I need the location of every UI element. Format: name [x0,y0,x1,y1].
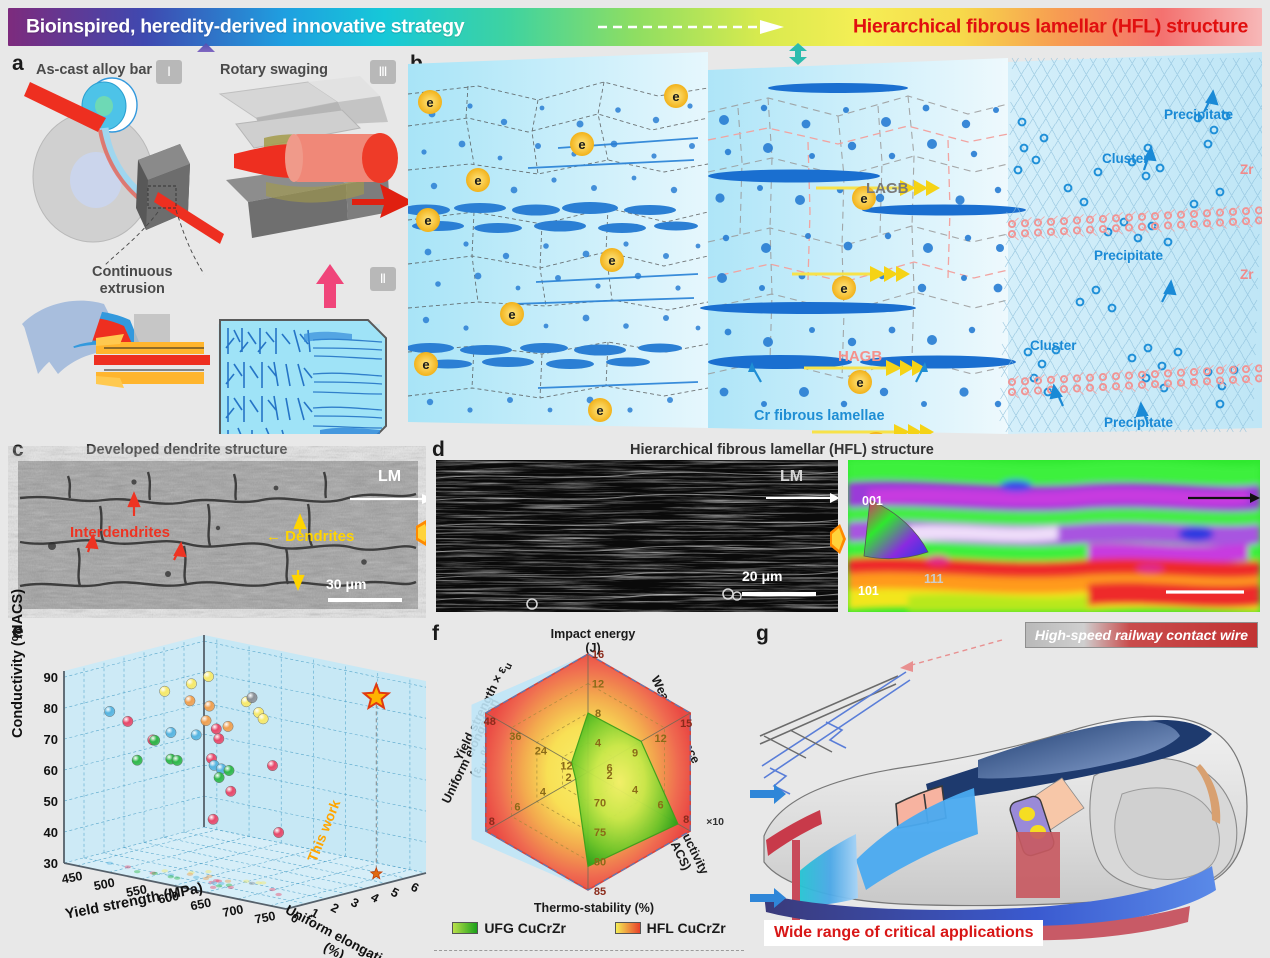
label-precipitate-1: Precipitate [1164,107,1233,122]
scatter-point [258,714,268,724]
radar-tick-label: 12 [654,733,666,745]
dashed-right-arrow-icon [598,17,788,37]
banner-right-text: Hierarchical fibrous lamellar (HFL) stru… [853,16,1248,39]
panel-c-lm-label: LM [378,468,401,486]
label-zr-2: Zr [1240,267,1254,282]
legend-label-hfl: HFL CuCrZr [647,920,726,936]
label-cluster-2: Cluster [1030,338,1077,353]
radar-tick-label: 4 [632,785,639,797]
svg-text:6: 6 [409,880,422,896]
panel-c-scale-bar [328,598,402,602]
panel-a-drawing [8,52,408,434]
svg-text:80: 80 [44,701,58,716]
label-lagb: LAGB [866,180,909,197]
scatter-point [160,686,170,696]
scatter-point [214,734,224,744]
scatter-point [186,679,196,689]
svg-text:60: 60 [44,763,58,778]
scatter-point [150,735,160,745]
svg-text:2: 2 [329,900,342,916]
panel-e-3d-scatter: e Conductivity (%IACS) 30405060708090450… [8,620,428,950]
scatter-point [273,827,283,837]
radar-tick-label: 8 [595,708,601,720]
radar-tick-label: 70 [594,798,606,810]
panel-f-radar-chart: f Impact energy(J) Wear resistance(mg-1·… [428,620,750,958]
svg-text:750: 750 [254,909,277,927]
legend-label-ufg: UFG CuCrZr [484,920,566,936]
label-interdendrites: Interdendrites [70,524,170,541]
radar-tick-label: 36 [509,731,521,743]
svg-text:40: 40 [44,825,58,840]
figure-root: Bioinspired, heredity-derived innovative… [0,0,1270,958]
svg-text:e: e [474,173,481,188]
svg-text:e: e [856,375,863,390]
radar-tick-label: 12 [592,679,604,691]
radar-tick-label: 24 [535,746,548,758]
ipf-label-101: 101 [858,584,879,598]
scatter-point [203,671,213,681]
scatter-point [166,727,176,737]
panel-d-lm-left: LM [780,468,803,486]
panel-d-scale-left-text: 20 μm [742,568,782,584]
svg-text:e: e [508,307,515,322]
radar-tick-label: 85 [594,886,606,898]
svg-text:90: 90 [44,670,58,685]
svg-text:e: e [608,253,615,268]
label-zr-1: Zr [1240,162,1254,177]
legend-swatch-hfl [615,922,641,934]
scatter-point [132,755,142,765]
scatter-point [247,692,257,702]
scatter-point [105,706,115,716]
panel-b-drawing: e e e e e e e e e e e e e [408,52,1262,434]
svg-text:e: e [426,95,433,110]
panel-d-scale-left-bar [742,592,816,596]
radar-tick-label: 9 [632,748,638,760]
svg-text:4: 4 [369,890,382,906]
panel-e-plot: 3040506070809045050055060065070075001234… [8,620,428,950]
scatter-point [204,701,214,711]
radar-tick-label: 15 [680,718,692,730]
svg-text:e: e [578,137,585,152]
svg-text:e: e [424,213,431,228]
legend-swatch-ufg [452,922,478,934]
legend-item-hfl: HFL CuCrZr [615,920,726,936]
panel-d-hfl-micrographs: d Hierarchical fibrous lamellar (HFL) st… [430,436,1262,618]
label-dendrites: ← Dendrites [266,528,354,545]
svg-text:500: 500 [93,876,116,894]
radar-tick-label: 6 [514,801,520,813]
legend-item-ufg: UFG CuCrZr [452,920,566,936]
panel-f-divider [434,950,744,951]
panel-d-darkfield-image [436,460,838,612]
svg-text:e: e [672,89,679,104]
panel-g-application: g High-speed railway contact wire [750,618,1262,958]
label-cluster-1: Cluster [1102,151,1149,166]
scatter-point [226,786,236,796]
radar-tick-label: 4 [595,738,602,750]
radar-tick-label: 12 [560,760,572,772]
scatter-point [123,716,133,726]
radar-tick-label: 2 [565,772,571,784]
radar-tick-label: 8 [489,816,495,828]
scatter-point [224,765,234,775]
svg-text:3: 3 [349,895,362,911]
panel-c-dendrite-micrograph: c Developed dendrite structure [8,436,426,618]
ipf-label-111: 111 [924,572,943,586]
radar-tick-label: 75 [594,827,606,839]
panel-c-scale-text: 30 μm [326,576,366,592]
panel-f-legend: UFG CuCrZr HFL CuCrZr [428,920,750,936]
radar-tick-label: 48 [484,716,496,728]
svg-text:5: 5 [389,885,402,901]
scatter-point [185,696,195,706]
panel-d-title: Hierarchical fibrous lamellar (HFL) stru… [630,442,934,458]
radar-tick-label: 4 [540,787,547,799]
label-precipitate-2: Precipitate [1094,248,1163,263]
scatter-point [214,772,224,782]
ipf-label-001: 001 [862,494,883,508]
svg-text:30: 30 [44,856,58,871]
radar-tick-label: 2 [606,770,612,782]
panel-d-link-marker-icon [828,524,850,554]
scatter-point [208,814,218,824]
scatter-point [172,755,182,765]
svg-text:70: 70 [44,732,58,747]
scatter-point [223,721,233,731]
radar-tick-label: 16 [592,649,604,661]
scatter-point [191,730,201,740]
scatter-point [201,715,211,725]
svg-text:700: 700 [221,902,244,920]
radar-conductivity-multiplier: ×10 [706,816,724,828]
radar-tick-label: 6 [658,799,664,811]
radar-tick-label: 8 [683,814,689,826]
svg-text:e: e [840,281,847,296]
svg-text:50: 50 [44,794,58,809]
panel-g-caption: Wide range of critical applications [764,920,1043,946]
panel-b-microstructure-schematic: b [408,52,1262,434]
panel-d-ebsd-ipf-image [848,460,1260,612]
radar-tick-label: 80 [594,857,606,869]
banner-left-text: Bioinspired, heredity-derived innovative… [26,16,464,39]
svg-text:e: e [422,357,429,372]
label-cr-fibrous-lamellae: Cr fibrous lamellae [754,408,885,424]
svg-text:450: 450 [61,869,84,887]
svg-text:e: e [596,403,603,418]
scatter-point [211,724,221,734]
top-banner: Bioinspired, heredity-derived innovative… [8,8,1262,46]
panel-g-train-drawing [750,618,1262,958]
scatter-point [267,760,277,770]
label-hagb: HAGB [838,348,882,365]
label-precipitate-3: Precipitate [1104,415,1173,430]
panel-a-process-schematic: a As-cast alloy bar Rotary swaging Ⅰ Ⅲ Ⅱ… [8,52,408,434]
panel-d-letter: d [432,438,445,462]
panel-f-plot: 481216691215246870758085246812243648×10 [428,620,750,920]
